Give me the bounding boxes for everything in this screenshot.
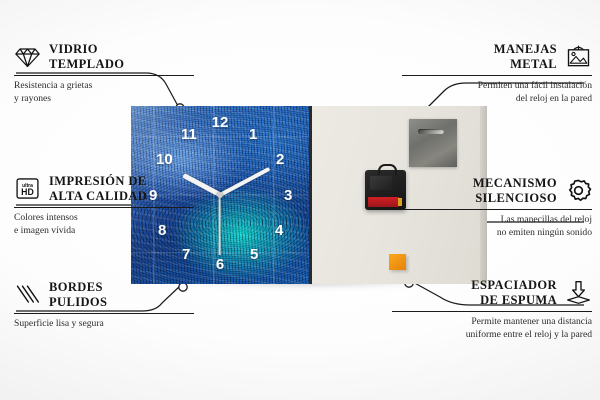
feature-divider [14,313,194,314]
feature-divider [14,207,194,208]
feature-divider [392,311,592,312]
feature-title: BORDES PULIDOS [49,280,107,310]
feature-desc-line1: Resistencia a grietas [14,80,194,93]
feature-desc-line2: del reloj en la pared [402,93,592,106]
feature-title: IMPRESIÓN DE ALTA CALIDAD [49,174,147,204]
feature-title-line1: MANEJAS [494,42,557,57]
feature-divider [402,209,592,210]
clock-numeral-1: 1 [249,127,257,142]
hanger-keyhole-slot [418,129,444,134]
feature-title-line1: ESPACIADOR [471,278,557,293]
feature-bordes-pulidos: BORDES PULIDOS Superficie lisa y segura [14,280,194,331]
feature-desc-line1: Las manecillas del reloj [402,214,592,227]
wall-hanging-frame-icon [565,44,592,69]
clock-numeral-3: 3 [284,188,292,203]
feature-desc-line1: Permite mantener una distancia [392,316,592,329]
feature-desc-line2: e imagen vívida [14,225,194,238]
feature-title-line2: TEMPLADO [49,57,124,72]
feature-desc-line1: Colores intensos [14,212,194,225]
polished-edges-icon [14,282,41,307]
clock-numeral-10: 10 [156,152,173,167]
feature-header: ultra HD IMPRESIÓN DE ALTA CALIDAD [14,174,194,204]
clock-numeral-4: 4 [275,223,283,238]
quartz-mechanism [365,170,406,210]
diamond-icon [14,44,41,69]
clock-numeral-11: 11 [181,127,197,142]
foam-spacer-arrow-icon [565,280,592,305]
feature-title-line2: PULIDOS [49,295,107,310]
clock-numeral-12: 12 [212,115,229,130]
feature-description: Las manecillas del reloj no emiten ningú… [402,214,592,239]
feature-manejas-metal: MANEJAS METAL Permiten una fácil instala… [402,42,592,105]
feature-espaciador-espuma: ESPACIADOR DE ESPUMA Permite mantener un… [392,278,592,341]
clock-numeral-2: 2 [276,152,284,167]
feature-title-line2: SILENCIOSO [473,191,557,206]
feature-desc-line2: no emiten ningún sonido [402,227,592,240]
feature-description: Permite mantener una distancia uniforme … [392,316,592,341]
clock-numeral-7: 7 [182,247,190,262]
feature-title: ESPACIADOR DE ESPUMA [471,278,557,308]
clock-numeral-6: 6 [216,257,224,272]
ultra-hd-icon: ultra HD [14,176,41,201]
feature-description: Superficie lisa y segura [14,318,194,331]
feature-description: Permiten una fácil instalación del reloj… [402,80,592,105]
foam-spacer-pad [389,254,406,270]
battery [368,197,399,207]
gear-icon [565,178,592,203]
feature-mecanismo-silencioso: MECANISMO SILENCIOSO Las manecillas del … [402,176,592,239]
feature-header: ESPACIADOR DE ESPUMA [392,278,592,308]
feature-desc-line1: Superficie lisa y segura [14,318,194,331]
feature-title-line1: MECANISMO [473,176,557,191]
feature-title-line2: METAL [494,57,557,72]
feature-title: VIDRIO TEMPLADO [49,42,124,72]
feature-header: VIDRIO TEMPLADO [14,42,194,72]
mechanism-hanging-loop [378,164,397,175]
feature-desc-line2: uniforme entre el reloj y la pared [392,329,592,342]
feature-divider [402,75,592,76]
feature-header: BORDES PULIDOS [14,280,194,310]
feature-desc-line2: y rayones [14,93,194,106]
feature-title: MECANISMO SILENCIOSO [473,176,557,206]
feature-divider [14,75,194,76]
clock-second-hand [219,195,221,255]
feature-vidrio-templado: VIDRIO TEMPLADO Resistencia a grietas y … [14,42,194,105]
feature-title-line1: BORDES [49,280,107,295]
svg-text:HD: HD [21,187,34,197]
feature-description: Resistencia a grietas y rayones [14,80,194,105]
mechanism-dial [370,176,392,190]
feature-title-line2: DE ESPUMA [471,293,557,308]
feature-header: MANEJAS METAL [402,42,592,72]
feature-title-line2: ALTA CALIDAD [49,189,147,204]
feature-title-line1: IMPRESIÓN DE [49,174,147,189]
feature-impresion-alta-calidad: ultra HD IMPRESIÓN DE ALTA CALIDAD Color… [14,174,194,237]
metal-hanger-plate [409,119,457,167]
feature-title: MANEJAS METAL [494,42,557,72]
feature-header: MECANISMO SILENCIOSO [402,176,592,206]
infographic-stage: 12 1 2 3 4 5 6 7 8 9 10 11 [0,0,600,400]
feature-desc-line1: Permiten una fácil instalación [402,80,592,93]
clock-center-pin [217,192,223,198]
feature-description: Colores intensos e imagen vívida [14,212,194,237]
feature-title-line1: VIDRIO [49,42,124,57]
clock-numeral-5: 5 [250,247,258,262]
